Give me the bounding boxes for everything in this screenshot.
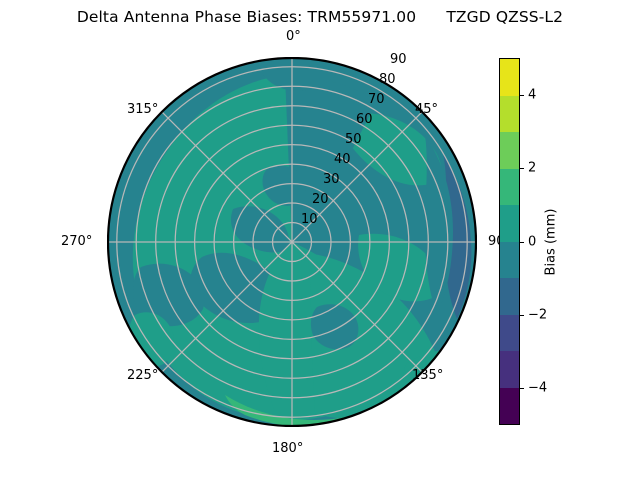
colorbar-tick-label-0: 0 [528, 234, 536, 249]
colorbar-band-1 [500, 351, 519, 388]
colorbar-band-4 [500, 242, 519, 279]
azimuth-label-180: 180° [272, 442, 303, 455]
colorbar-band-3 [500, 278, 519, 315]
colorbar-tick-mark-4 [520, 95, 524, 96]
colorbar-band-5 [500, 205, 519, 242]
colorbar-band-2 [500, 315, 519, 352]
colorbar-tick-mark-2 [520, 168, 524, 169]
radial-label-40: 40 [334, 153, 351, 166]
radial-label-50: 50 [345, 133, 362, 146]
colorbar-band-6 [500, 169, 519, 206]
azimuth-label-225: 225° [127, 369, 158, 382]
azimuth-label-0: 0° [286, 30, 301, 43]
colorbar-tick-label-2: 2 [528, 161, 536, 176]
polar-axes[interactable]: 0° 45° 90 135° 180° 225° 270° 315° 10 20… [107, 57, 477, 427]
colorbar-tick-mark-0 [520, 242, 524, 243]
radial-label-60: 60 [356, 113, 373, 126]
azimuth-label-135: 135° [412, 369, 443, 382]
colorbar-tick-mark-neg2 [520, 315, 524, 316]
colorbar-band-7 [500, 132, 519, 169]
colorbar-axis-label: Bias (mm) [544, 209, 559, 276]
colorbar[interactable]: 4 2 0 −2 −4 [499, 58, 520, 425]
azimuth-label-270: 270° [61, 235, 92, 248]
colorbar-tick-label-neg4: −4 [528, 381, 547, 396]
radial-label-80: 80 [379, 73, 396, 86]
colorbar-tick-mark-neg4 [520, 388, 524, 389]
radial-label-10: 10 [301, 213, 318, 226]
colorbar-band-0 [500, 388, 519, 425]
radial-label-70: 70 [368, 93, 385, 106]
azimuth-label-315: 315° [127, 103, 158, 116]
colorbar-band-9 [500, 59, 519, 96]
colorbar-gradient [499, 58, 520, 425]
azimuth-label-45: 45° [415, 103, 438, 116]
radial-label-20: 20 [312, 193, 329, 206]
radial-label-90: 90 [390, 53, 407, 66]
figure-canvas: Delta Antenna Phase Biases: TRM55971.00 … [0, 0, 640, 480]
radial-label-30: 30 [323, 173, 340, 186]
colorbar-band-8 [500, 96, 519, 133]
colorbar-tick-label-neg2: −2 [528, 307, 547, 322]
page-title: Delta Antenna Phase Biases: TRM55971.00 … [0, 8, 640, 26]
colorbar-tick-label-4: 4 [528, 87, 536, 102]
